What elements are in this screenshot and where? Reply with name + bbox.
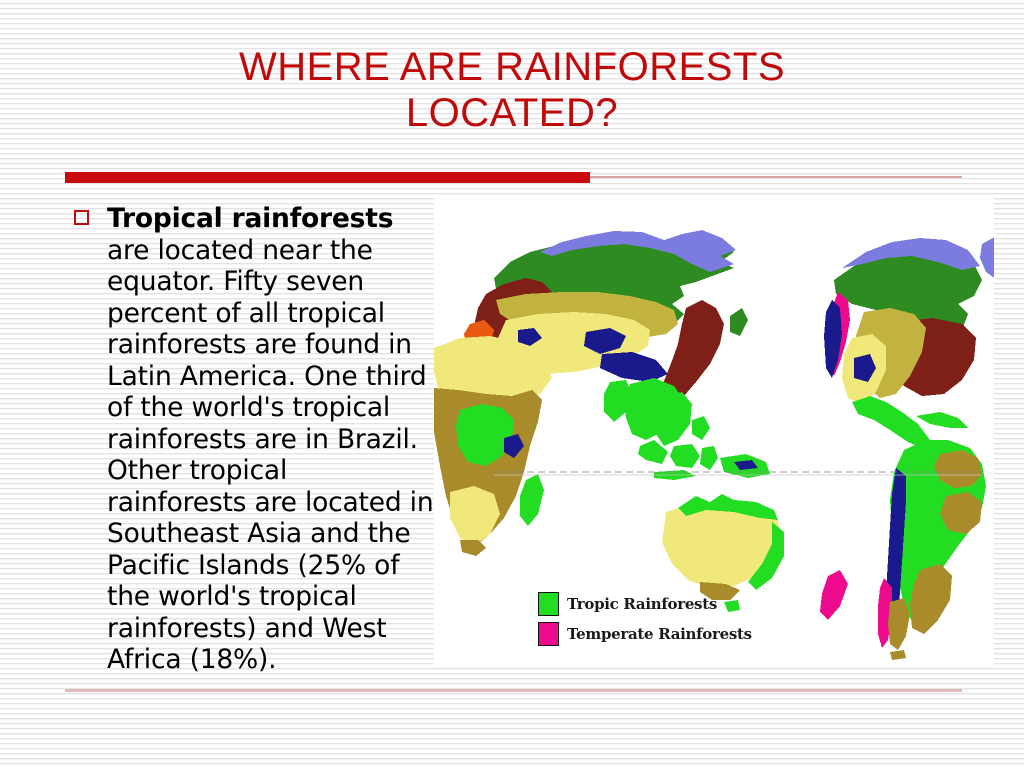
legend-label-tropic: Tropic Rainforests: [567, 595, 717, 613]
list-item: Tropical rainforests are located near th…: [74, 203, 434, 676]
bullet-paragraph: Tropical rainforests are located near th…: [107, 203, 434, 676]
legend-labels: Tropic Rainforests Temperate Rainforests: [538, 592, 738, 652]
body-text-block: Tropical rainforests are located near th…: [74, 203, 434, 676]
title-accent-bar: [65, 172, 590, 183]
legend-label-temperate: Temperate Rainforests: [567, 625, 752, 643]
footer-divider-line: [65, 689, 962, 692]
legend-swatch-tropic-icon: [538, 592, 559, 616]
square-outline-bullet-icon: [74, 210, 89, 225]
legend-item-temperate: Temperate Rainforests: [538, 622, 738, 646]
legend-swatch-temperate-icon: [538, 622, 559, 646]
legend-item-tropic: Tropic Rainforests: [538, 592, 738, 616]
page-title: WHERE ARE RAINFORESTS LOCATED?: [60, 44, 964, 136]
world-biome-map: Tropic Rainforests Temperate Rainforests: [434, 196, 994, 668]
bullet-rest-text: are located near the equator. Fifty seve…: [107, 235, 433, 676]
slide-canvas: WHERE ARE RAINFORESTS LOCATED? Tropical …: [0, 0, 1024, 767]
bullet-lead-text: Tropical rainforests: [107, 203, 393, 234]
